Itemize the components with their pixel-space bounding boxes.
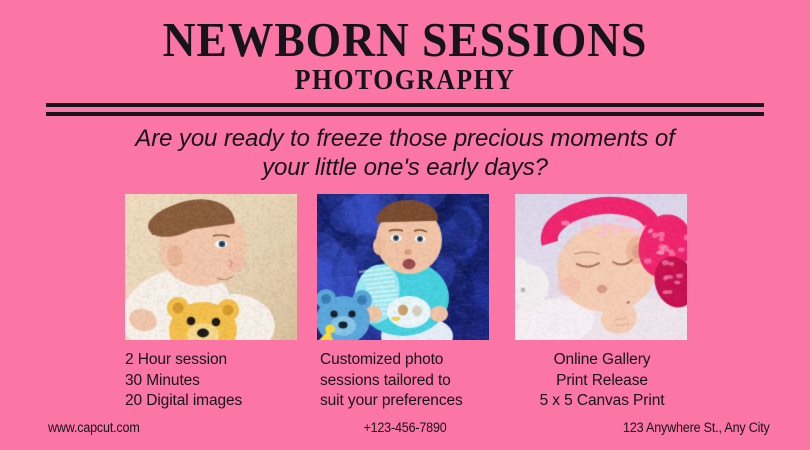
photo-sleeping-baby-pink-headband <box>515 194 687 340</box>
deliverables-details-line-3: 5 x 5 Canvas Print <box>512 391 692 412</box>
divider-rule-bottom <box>46 112 764 116</box>
deliverables-details-line-1: Online Gallery <box>512 350 692 371</box>
page-subtitle: PHOTOGRAPHY <box>32 66 777 96</box>
customization-details-line-2: sessions tailored to <box>320 371 505 392</box>
customization-details: Customized photo sessions tailored to su… <box>320 350 505 412</box>
package-details-line-1: 2 Hour session <box>125 350 305 371</box>
photo-baby-with-teddy-bear <box>125 194 297 340</box>
footer: www.capcut.com +123-456-7890 123 Anywher… <box>0 418 810 440</box>
page-title: NEWBORN SESSIONS <box>28 14 781 66</box>
photo-gallery <box>0 194 810 340</box>
tagline-line-1: Are you ready to freeze those precious m… <box>60 124 750 153</box>
tagline-line-2: your little one's early days? <box>60 153 750 182</box>
deliverables-details: Online Gallery Print Release 5 x 5 Canva… <box>512 350 692 412</box>
caption-row: 2 Hour session 30 Minutes 20 Digital ima… <box>0 350 810 412</box>
customization-details-line-3: suit your preferences <box>320 391 505 412</box>
photo-baby-with-teddy-bear-image <box>125 194 297 340</box>
poster-canvas: NEWBORN SESSIONS PHOTOGRAPHY Are you rea… <box>0 0 810 450</box>
package-details: 2 Hour session 30 Minutes 20 Digital ima… <box>125 350 305 412</box>
photo-sleeping-baby-pink-headband-image <box>515 194 687 340</box>
tagline: Are you ready to freeze those precious m… <box>60 124 750 182</box>
footer-address: 123 Anywhere St., Any City <box>623 418 770 438</box>
divider-rule-top <box>46 103 764 107</box>
photo-baby-blue-blanket-image <box>317 194 489 340</box>
customization-details-line-1: Customized photo <box>320 350 505 371</box>
deliverables-details-line-2: Print Release <box>512 371 692 392</box>
package-details-line-2: 30 Minutes <box>125 371 305 392</box>
package-details-line-3: 20 Digital images <box>125 391 305 412</box>
photo-baby-blue-blanket <box>317 194 489 340</box>
